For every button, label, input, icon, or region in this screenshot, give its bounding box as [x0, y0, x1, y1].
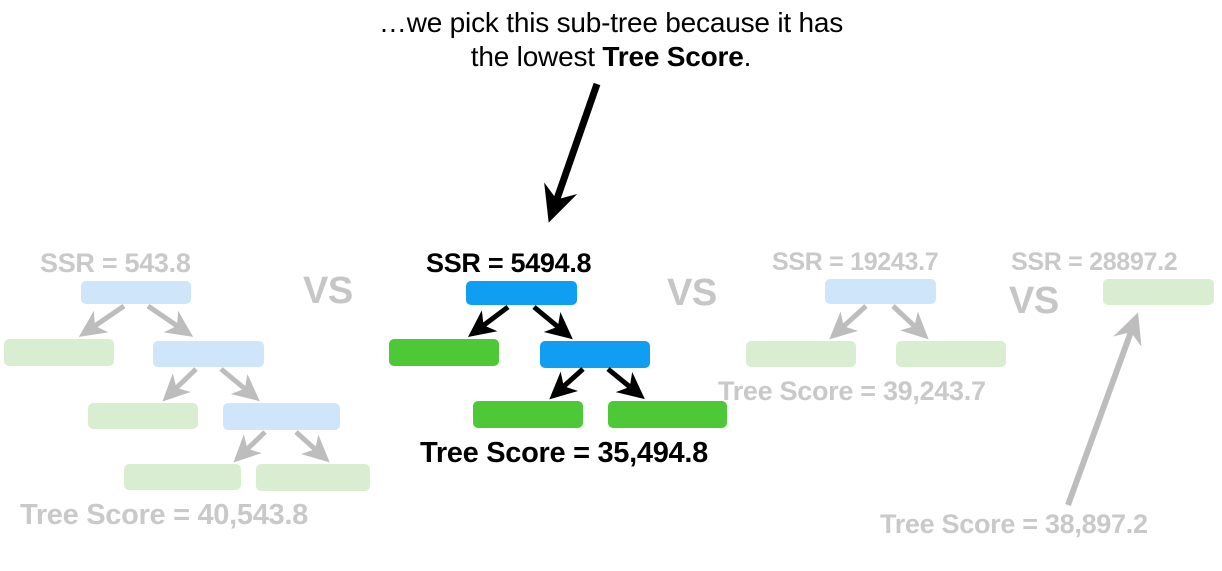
headline-line-1: …we pick this sub-tree because it has	[379, 7, 843, 38]
tree-2-node-root	[466, 281, 577, 305]
tree-1-edge-n3-left	[237, 432, 265, 459]
ssr-label-tree-2: SSR = 5494.8	[426, 248, 591, 279]
tree-3-edge-root-right	[893, 306, 925, 336]
tree-1-node-leaf-2	[88, 403, 198, 429]
tree-score-label-tree-4: Tree Score = 38,897.2	[880, 509, 1148, 540]
tree-1-edge-n2-left	[166, 369, 196, 398]
tree-2-node-leaf-1	[389, 339, 499, 366]
tree-4-node-leaf-1	[1103, 279, 1214, 305]
tree-4-callout-arrow	[1068, 318, 1136, 505]
tree-1-edge-root-right	[148, 306, 189, 334]
tree-score-label-tree-2: Tree Score = 35,494.8	[420, 437, 708, 470]
pointer-arrow-to-selected-tree	[551, 84, 597, 216]
slide-canvas: …we pick this sub-tree because it has th…	[0, 0, 1222, 571]
vs-separator-2: VS	[667, 272, 717, 315]
tree-2-edge-root-right	[534, 307, 569, 336]
tree-score-label-tree-3: Tree Score = 39,243.7	[718, 376, 986, 407]
ssr-label-tree-3: SSR = 19243.7	[772, 248, 938, 277]
tree-1-node-leaf-1	[4, 339, 114, 366]
tree-2-edge-root-left	[472, 307, 508, 334]
headline-line-2-suffix: .	[744, 41, 752, 72]
tree-1-node-internal-2	[153, 341, 264, 367]
tree-2-edge-n2-right	[608, 369, 641, 396]
tree-2-node-leaf-2	[473, 401, 583, 428]
tree-score-label-tree-1: Tree Score = 40,543.8	[20, 499, 308, 532]
tree-3-edge-root-left	[833, 306, 866, 336]
tree-1-edge-n2-right	[221, 369, 256, 398]
headline: …we pick this sub-tree because it has th…	[281, 6, 941, 74]
tree-3-node-leaf-2	[896, 341, 1006, 367]
headline-emphasis-tree-score: Tree Score	[602, 41, 743, 72]
tree-1-node-root	[81, 281, 191, 304]
tree-3-node-leaf-1	[746, 341, 856, 367]
tree-1-node-leaf-4	[256, 464, 370, 491]
vs-separator-1: VS	[303, 270, 353, 313]
headline-line-2-prefix: the lowest	[471, 41, 603, 72]
tree-2-node-leaf-3	[608, 401, 727, 428]
tree-1-node-internal-3	[223, 403, 340, 430]
ssr-label-tree-4: SSR = 28897.2	[1011, 248, 1177, 277]
tree-2-node-internal-2	[540, 341, 650, 368]
tree-2-edge-n2-left	[553, 369, 583, 396]
ssr-label-tree-1: SSR = 543.8	[40, 248, 191, 279]
tree-1-edge-root-left	[83, 306, 124, 334]
tree-3-node-root	[825, 279, 936, 304]
tree-1-edge-n3-right	[296, 432, 326, 459]
vs-separator-3: VS	[1009, 280, 1059, 323]
tree-1-node-leaf-3	[124, 464, 241, 490]
